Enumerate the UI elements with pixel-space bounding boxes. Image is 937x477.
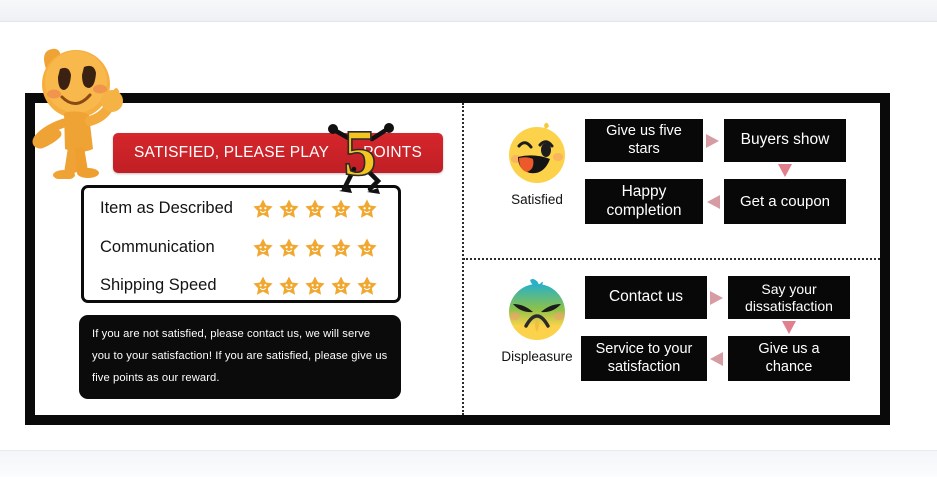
page-top-band bbox=[0, 0, 937, 22]
flow-step-happy-completion[interactable]: Happy completion bbox=[585, 179, 703, 224]
satisfied-face-label: Satisfied bbox=[511, 192, 563, 207]
star-icon bbox=[252, 275, 274, 297]
star-rating-shipping-speed[interactable] bbox=[252, 275, 378, 297]
flow-step-contact-us[interactable]: Contact us bbox=[585, 276, 707, 319]
rating-label: Item as Described bbox=[100, 199, 252, 218]
flow-step-say-your-dissatisfaction[interactable]: Say your dissatisfaction bbox=[728, 276, 850, 319]
star-icon bbox=[252, 198, 274, 220]
satisfied-emoji-icon bbox=[504, 121, 570, 187]
arrow-left-icon bbox=[707, 195, 720, 209]
process-flow-panel: Satisfied Give us five stars Buyers show… bbox=[463, 103, 880, 415]
satisfied-face-block: Satisfied bbox=[489, 121, 585, 207]
star-icon bbox=[278, 198, 300, 220]
star-icon bbox=[304, 237, 326, 259]
flow-step-buyers-show[interactable]: Buyers show bbox=[724, 119, 846, 162]
star-icon bbox=[278, 237, 300, 259]
star-icon bbox=[330, 237, 352, 259]
flow-step-service-to-your-satisfaction[interactable]: Service to your satisfaction bbox=[581, 336, 707, 381]
poster-canvas: SATISFIED, PLEASE PLAY POINTS bbox=[0, 0, 937, 477]
displeasure-face-label: Displeasure bbox=[501, 349, 572, 364]
satisfied-banner: SATISFIED, PLEASE PLAY POINTS bbox=[113, 133, 443, 173]
star-icon bbox=[304, 275, 326, 297]
flow-step-give-us-a-chance[interactable]: Give us a chance bbox=[728, 336, 850, 381]
displeasure-flow-group: Displeasure Contact us Say your dissatis… bbox=[463, 260, 880, 415]
flow-step-give-us-five-stars[interactable]: Give us five stars bbox=[585, 119, 703, 162]
flow-step-get-a-coupon[interactable]: Get a coupon bbox=[724, 179, 846, 224]
rating-card: Item as Described Communication bbox=[81, 185, 401, 303]
arrow-down-icon bbox=[778, 164, 792, 177]
rating-row: Shipping Speed bbox=[84, 266, 398, 305]
satisfaction-note-text: If you are not satisfied, please contact… bbox=[92, 324, 388, 390]
rating-label: Communication bbox=[100, 238, 252, 257]
satisfaction-note-box: If you are not satisfied, please contact… bbox=[79, 315, 401, 399]
star-icon bbox=[252, 237, 274, 259]
star-rating-item-as-described[interactable] bbox=[252, 198, 378, 220]
rating-row: Communication bbox=[84, 228, 398, 267]
displeasure-emoji-icon bbox=[504, 278, 570, 344]
mascot-thumbs-up-icon bbox=[20, 39, 140, 179]
feedback-poster: SATISFIED, PLEASE PLAY POINTS bbox=[25, 93, 890, 425]
arrow-right-icon bbox=[706, 134, 719, 148]
star-icon bbox=[278, 275, 300, 297]
displeasure-face-block: Displeasure bbox=[489, 278, 585, 364]
satisfied-banner-text: SATISFIED, PLEASE PLAY POINTS bbox=[113, 133, 443, 173]
arrow-right-icon bbox=[710, 291, 723, 305]
star-icon bbox=[330, 198, 352, 220]
star-icon bbox=[304, 198, 326, 220]
rating-row: Item as Described bbox=[84, 189, 398, 228]
star-rating-communication[interactable] bbox=[252, 237, 378, 259]
banner-text-after: POINTS bbox=[363, 144, 422, 162]
star-icon bbox=[330, 275, 352, 297]
banner-text-before: SATISFIED, PLEASE PLAY bbox=[134, 144, 329, 162]
satisfied-flow-group: Satisfied Give us five stars Buyers show… bbox=[463, 103, 880, 258]
arrow-left-icon bbox=[710, 352, 723, 366]
arrow-down-icon bbox=[782, 321, 796, 334]
star-icon bbox=[356, 237, 378, 259]
rating-panel: SATISFIED, PLEASE PLAY POINTS bbox=[35, 103, 462, 415]
star-icon bbox=[356, 275, 378, 297]
page-bottom-band bbox=[0, 450, 937, 477]
star-icon bbox=[356, 198, 378, 220]
rating-label: Shipping Speed bbox=[100, 276, 252, 295]
